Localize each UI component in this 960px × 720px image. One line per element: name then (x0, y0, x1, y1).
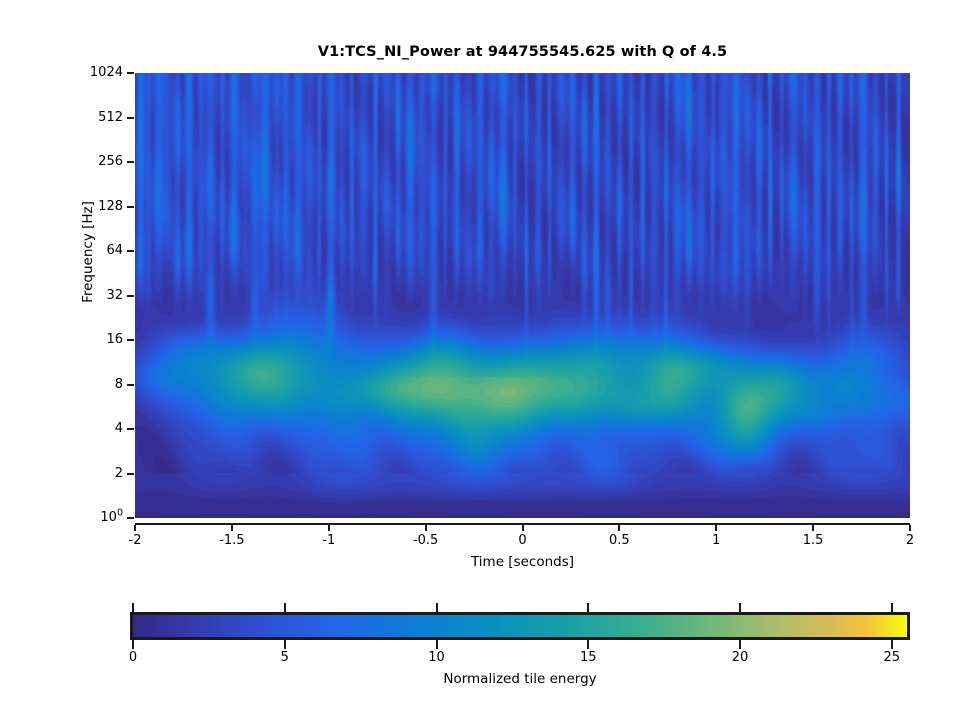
y-tick (127, 117, 134, 119)
x-tick (618, 525, 620, 531)
y-tick (127, 428, 134, 430)
colorbar-tick-label: 0 (103, 650, 163, 665)
x-tick (328, 525, 330, 531)
colorbar (130, 612, 910, 640)
colorbar-tick (587, 640, 589, 649)
y-tick (127, 161, 134, 163)
y-tick-label: 128 (98, 200, 123, 213)
x-tick (909, 525, 911, 531)
colorbar-tick (891, 603, 893, 612)
y-tick-label: 64 (106, 244, 123, 257)
y-tick-label: 512 (98, 111, 123, 124)
x-tick (715, 525, 717, 531)
x-tick (812, 525, 814, 531)
x-tick-label: 0.5 (584, 533, 654, 548)
x-tick-label: -1.5 (197, 533, 267, 548)
y-tick-label: 100 (100, 511, 123, 524)
colorbar-tick-label: 10 (407, 650, 467, 665)
y-tick (127, 517, 134, 519)
x-tick-label: 1.5 (778, 533, 848, 548)
spectrogram-axes (135, 73, 910, 518)
y-tick (127, 206, 134, 208)
y-tick (127, 339, 134, 341)
x-axis-label: Time [seconds] (135, 554, 910, 570)
colorbar-tick (284, 640, 286, 649)
x-tick-label: -2 (100, 533, 170, 548)
colorbar-tick (739, 640, 741, 649)
colorbar-tick (587, 603, 589, 612)
colorbar-tick (436, 603, 438, 612)
y-tick (127, 384, 134, 386)
x-tick (134, 525, 136, 531)
x-tick-label: 0 (488, 533, 558, 548)
y-tick-label: 1024 (90, 66, 123, 79)
spectrogram-figure: V1:TCS_NI_Power at 944755545.625 with Q … (0, 0, 960, 720)
y-tick-label: 2 (115, 467, 123, 480)
colorbar-tick (739, 603, 741, 612)
y-tick-label: 16 (106, 333, 123, 346)
colorbar-tick (436, 640, 438, 649)
colorbar-tick (132, 603, 134, 612)
y-axis-label: Frequency [Hz] (80, 152, 96, 352)
colorbar-tick-label: 20 (710, 650, 770, 665)
x-tick (522, 525, 524, 531)
colorbar-tick-label: 5 (255, 650, 315, 665)
colorbar-label: Normalized tile energy (130, 671, 910, 687)
colorbar-tick-label: 15 (558, 650, 618, 665)
page-title: V1:TCS_NI_Power at 944755545.625 with Q … (135, 44, 910, 60)
x-tick (231, 525, 233, 531)
x-tick-label: -0.5 (391, 533, 461, 548)
x-tick-label: 1 (681, 533, 751, 548)
y-tick-label: 256 (98, 155, 123, 168)
spectrogram-heatmap (135, 73, 910, 518)
colorbar-gradient (133, 615, 907, 637)
colorbar-tick (891, 640, 893, 649)
y-tick (127, 72, 134, 74)
x-tick-label: 2 (875, 533, 945, 548)
y-tick (127, 473, 134, 475)
x-tick-label: -1 (294, 533, 364, 548)
y-tick-label: 8 (115, 378, 123, 391)
y-tick (127, 250, 134, 252)
y-tick (127, 295, 134, 297)
x-tick (425, 525, 427, 531)
y-tick-label: 32 (106, 289, 123, 302)
colorbar-tick (284, 603, 286, 612)
y-tick-label: 4 (115, 422, 123, 435)
colorbar-tick (132, 640, 134, 649)
colorbar-tick-label: 25 (862, 650, 922, 665)
